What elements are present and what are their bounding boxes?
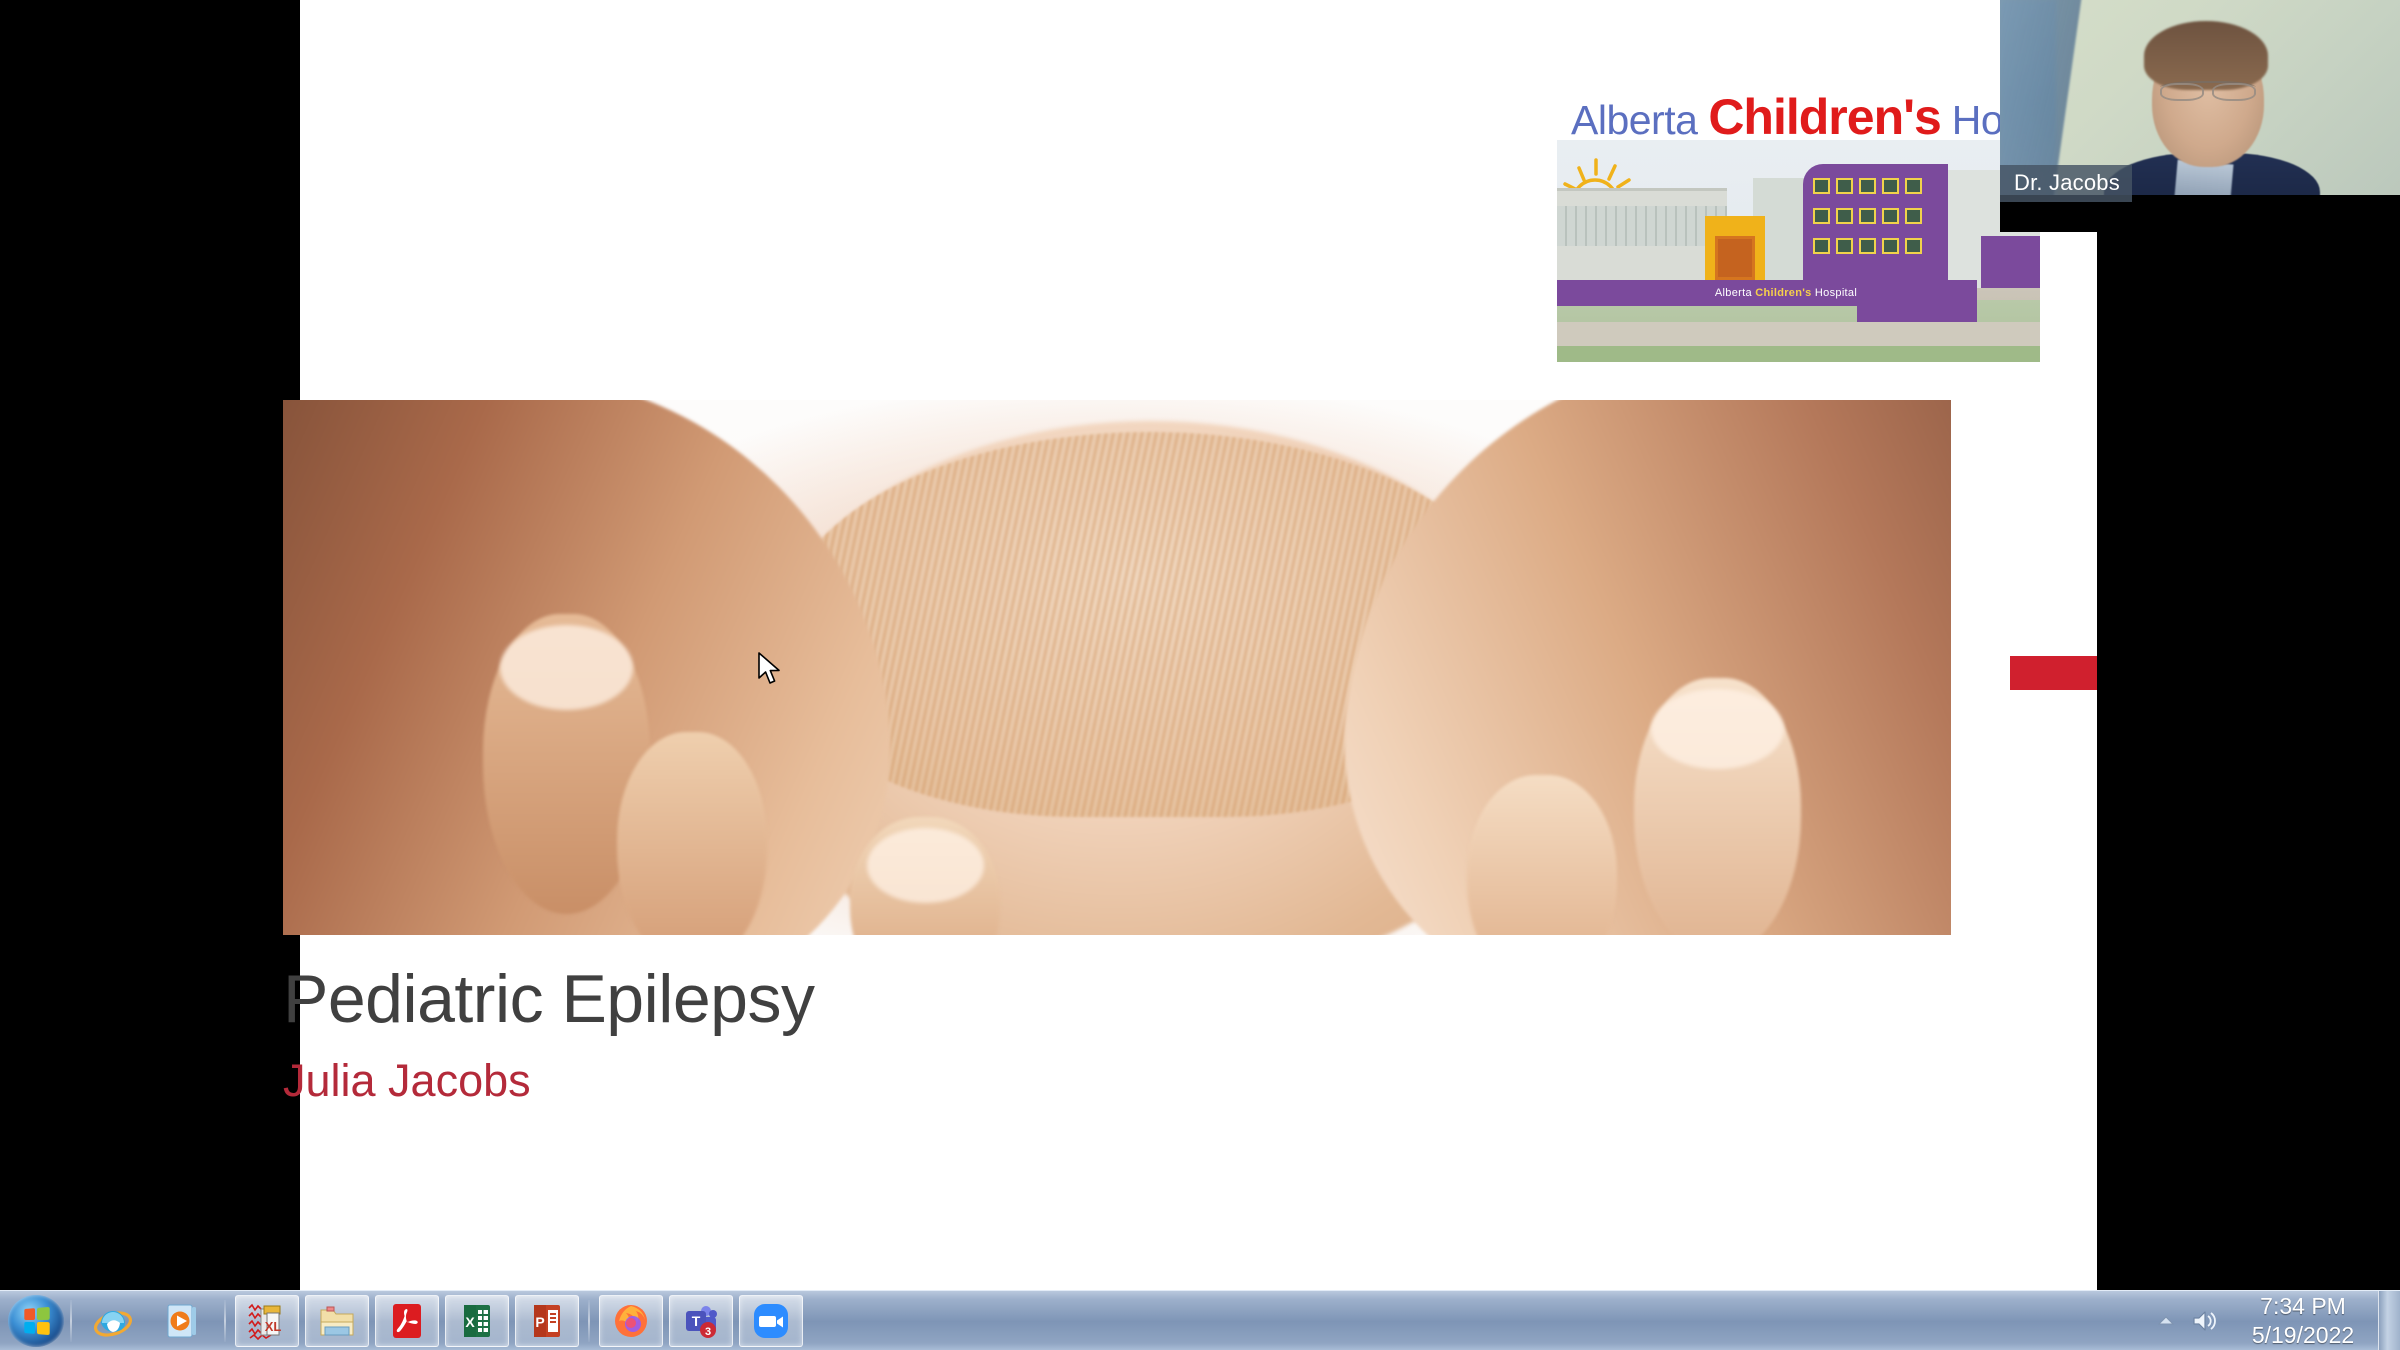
- accent-bar-right: [2010, 656, 2097, 690]
- taskbar-separator: [224, 1300, 226, 1342]
- windows-logo-icon: [24, 1306, 49, 1334]
- slide-subtitle: Julia Jacobs: [283, 1055, 1683, 1107]
- speaker-hair: [2144, 21, 2268, 91]
- microsoft-excel-icon: X: [457, 1301, 497, 1341]
- folder-icon: [317, 1301, 357, 1341]
- alberta-childrens-hospital-logo: Alberta Children's Hospit: [1557, 0, 2040, 362]
- media-player-icon: [163, 1301, 203, 1341]
- eeg-waveform-icon: XL: [247, 1301, 287, 1341]
- speaker-icon: [2191, 1308, 2221, 1334]
- start-button[interactable]: [8, 1295, 64, 1347]
- svg-text:XL: XL: [265, 1319, 282, 1334]
- finger: [617, 732, 767, 935]
- chevron-up-icon: [2156, 1314, 2176, 1328]
- taskbar-item-eeg-recording-app[interactable]: XL: [235, 1295, 299, 1347]
- zoom-icon: [751, 1301, 791, 1341]
- teams-badge-count: 3: [705, 1326, 711, 1338]
- windows-taskbar[interactable]: XL: [0, 1290, 2400, 1350]
- show-hidden-icons-button[interactable]: [2148, 1314, 2184, 1328]
- webcam-video-thumbnail[interactable]: Dr. Jacobs: [2000, 0, 2400, 232]
- fingernail: [1651, 689, 1784, 769]
- clock-time: 7:34 PM: [2228, 1292, 2378, 1321]
- hospital-building-illustration: Alberta Children's Hospital: [1557, 140, 2040, 362]
- slide-title: Pediatric Epilepsy: [283, 960, 1683, 1038]
- svg-text:P: P: [535, 1314, 544, 1330]
- building-purple-wing: [1981, 236, 2040, 288]
- clock[interactable]: 7:34 PM 5/19/2022: [2228, 1291, 2378, 1350]
- mozilla-firefox-icon: [611, 1301, 651, 1341]
- taskbar-separator: [70, 1300, 72, 1342]
- adobe-reader-icon: [387, 1301, 427, 1341]
- building-window-row: [1813, 208, 1922, 224]
- building-window-row: [1813, 178, 1922, 194]
- fingernail: [867, 828, 984, 903]
- participant-name-label: Dr. Jacobs: [2000, 165, 2132, 202]
- building-window-row: [1813, 238, 1922, 254]
- building-sign-alberta: Alberta: [1715, 287, 1755, 299]
- taskbar-item-windows-media-player[interactable]: [151, 1295, 215, 1347]
- baby-photo: [283, 400, 1951, 935]
- show-desktop-button[interactable]: [2378, 1291, 2400, 1350]
- taskbar-item-zoom[interactable]: [739, 1295, 803, 1347]
- taskbar-item-microsoft-teams[interactable]: T 3: [669, 1295, 733, 1347]
- presentation-slide[interactable]: Alberta Children's Hospit: [300, 0, 2097, 1290]
- taskbar-separator: [588, 1300, 590, 1342]
- system-tray[interactable]: 7:34 PM 5/19/2022: [2148, 1291, 2400, 1350]
- microsoft-teams-icon: T 3: [681, 1301, 721, 1341]
- desktop-screen: Alberta Children's Hospit: [0, 0, 2400, 1350]
- speaker-glasses: [2160, 81, 2256, 97]
- volume-button[interactable]: [2184, 1308, 2228, 1334]
- taskbar-item-adobe-reader[interactable]: [375, 1295, 439, 1347]
- building-entrance-sign: Alberta Children's Hospital: [1661, 284, 1911, 302]
- svg-text:T: T: [692, 1313, 701, 1329]
- taskbar-item-windows-explorer[interactable]: [305, 1295, 369, 1347]
- mouse-cursor: [757, 652, 783, 686]
- clock-date: 5/19/2022: [2228, 1321, 2378, 1350]
- taskbar-item-mozilla-firefox[interactable]: [599, 1295, 663, 1347]
- building-lawn: [1557, 346, 2040, 362]
- taskbar-item-microsoft-powerpoint[interactable]: P: [515, 1295, 579, 1347]
- logo-wordmark: Alberta Children's Hospit: [1571, 88, 2040, 146]
- taskbar-item-internet-explorer[interactable]: [81, 1295, 145, 1347]
- internet-explorer-icon: [93, 1301, 133, 1341]
- building-glass-left: [1557, 206, 1727, 246]
- logo-word-childrens: Children's: [1708, 89, 1940, 145]
- microsoft-powerpoint-icon: P: [527, 1301, 567, 1341]
- fingernail: [500, 625, 633, 711]
- svg-text:X: X: [465, 1314, 475, 1330]
- building-sign-childrens: Children's: [1755, 287, 1811, 299]
- taskbar-item-microsoft-excel[interactable]: X: [445, 1295, 509, 1347]
- logo-word-alberta: Alberta: [1571, 97, 1697, 143]
- building-entrance-window: [1715, 236, 1755, 280]
- building-sign-hospital: Hospital: [1812, 287, 1858, 299]
